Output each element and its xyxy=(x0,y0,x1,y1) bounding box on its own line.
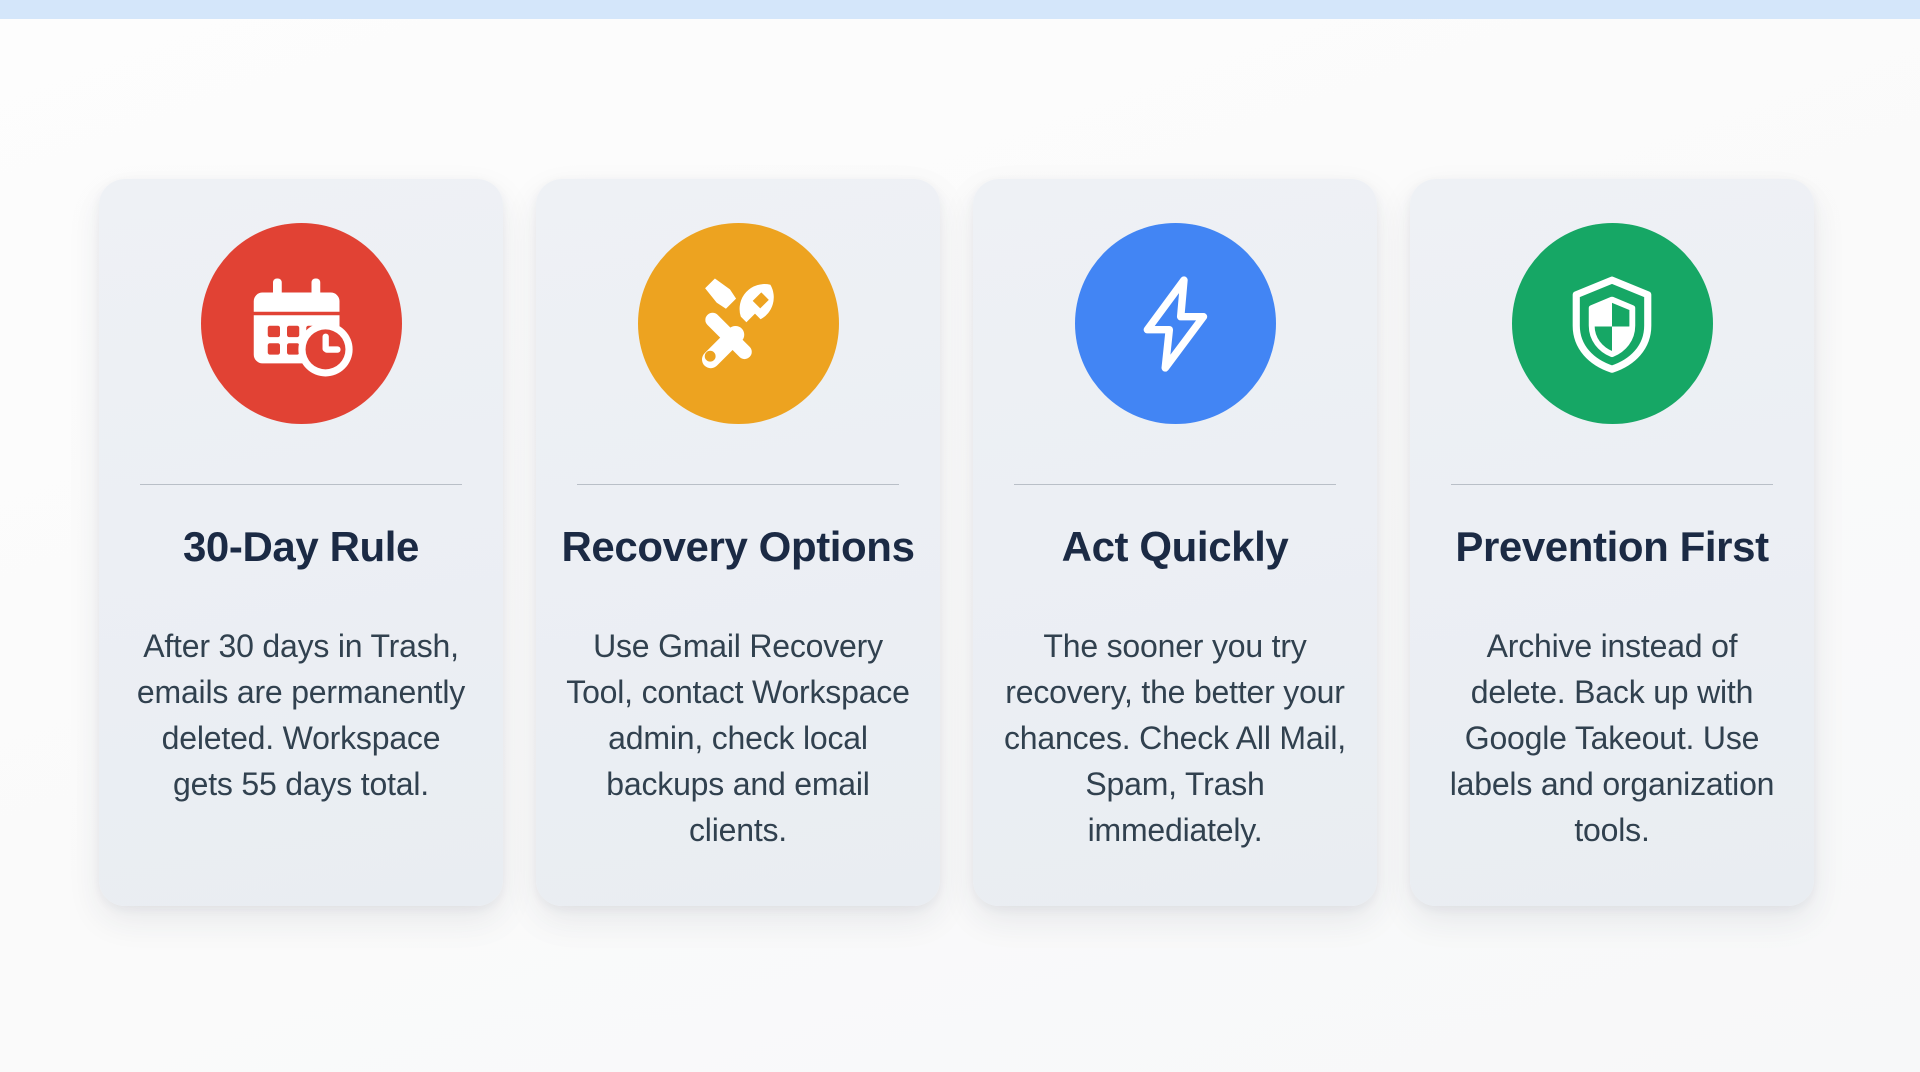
info-card-prevention-first[interactable]: Prevention First Archive instead of dele… xyxy=(1410,179,1814,906)
card-title-slot: Recovery Options xyxy=(566,485,910,591)
card-body-text: Use Gmail Recovery Tool, contact Workspa… xyxy=(566,623,910,853)
info-card-recovery-options[interactable]: Recovery Options Use Gmail Recovery Tool… xyxy=(536,179,940,906)
card-body-text: Archive instead of delete. Back up with … xyxy=(1440,623,1784,853)
tools-icon xyxy=(638,223,839,424)
card-title-slot: Act Quickly xyxy=(1003,485,1347,591)
card-grid: 30-Day Rule After 30 days in Trash, emai… xyxy=(99,179,1821,906)
info-card-act-quickly[interactable]: Act Quickly The sooner you try recovery,… xyxy=(973,179,1377,906)
top-accent-strip xyxy=(0,0,1920,19)
card-title: Recovery Options xyxy=(561,523,914,571)
card-title: Act Quickly xyxy=(1062,523,1289,571)
card-body-text: After 30 days in Trash, emails are perma… xyxy=(129,623,473,807)
lightning-bolt-icon xyxy=(1075,223,1276,424)
infographic-stage: 30-Day Rule After 30 days in Trash, emai… xyxy=(0,19,1920,1072)
shield-icon xyxy=(1512,223,1713,424)
calendar-clock-icon xyxy=(201,223,402,424)
info-card-30-day-rule[interactable]: 30-Day Rule After 30 days in Trash, emai… xyxy=(99,179,503,906)
card-title-slot: 30-Day Rule xyxy=(129,485,473,591)
card-body-text: The sooner you try recovery, the better … xyxy=(1003,623,1347,853)
card-title-slot: Prevention First xyxy=(1440,485,1784,591)
card-title: Prevention First xyxy=(1455,523,1768,571)
card-title: 30-Day Rule xyxy=(183,523,419,571)
